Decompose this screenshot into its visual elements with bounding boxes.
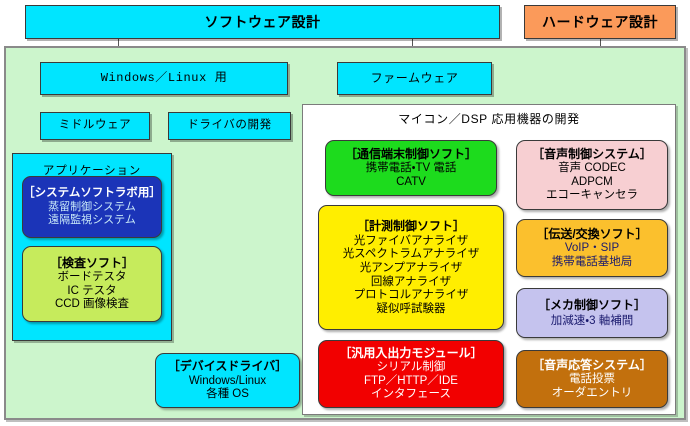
card-device-driver: ［デバイスドライバ］ Windows/Linux 各種 OS — [155, 353, 300, 408]
card-measurement-control-line-4: プロトコルアナライザ — [354, 289, 469, 303]
card-voice-control-system: ［音声制御システム］ 音声 CODEC ADPCM エコーキャンセラ — [516, 140, 668, 210]
card-device-driver-line-1: 各種 OS — [206, 388, 249, 402]
card-voice-control-system-line-0: 音声 CODEC — [558, 162, 626, 176]
card-inspection-software-line-1: IC テスタ — [67, 285, 116, 299]
card-measurement-control-line-2: 光アンプアナライザ — [360, 262, 462, 276]
middleware-box-label: ミドルウェア — [59, 119, 132, 133]
card-mecha-control-title: ［メカ制御ソフト］ — [538, 298, 646, 312]
software-design-header: ソフトウェア設計 — [25, 5, 500, 39]
firmware-box: ファームウェア — [337, 62, 492, 95]
hardware-design-header-label: ハードウェア設計 — [542, 14, 658, 31]
card-transmission-switching-title: ［伝送/交換ソフト］ — [536, 227, 647, 241]
card-inspection-software-line-2: CCD 画像検査 — [55, 298, 129, 312]
hardware-design-header: ハードウェア設計 — [524, 5, 676, 39]
card-general-io-module-line-0: シリアル制御 — [377, 361, 446, 375]
card-system-software-lab-title: ［システムソフトラボ用］ — [23, 187, 161, 201]
card-voice-response-system: ［音声応答システム］ 電話投票 オーダエントリ — [516, 350, 668, 408]
middleware-box: ミドルウェア — [40, 112, 150, 140]
card-voice-control-system-line-1: ADPCM — [571, 176, 613, 190]
card-voice-response-system-line-1: オーダエントリ — [552, 387, 633, 401]
card-comm-terminal-control: ［通信端末制御ソフト］ 携帯電話・TV 電話 CATV — [325, 140, 497, 196]
card-system-software-lab: ［システムソフトラボ用］ 蒸留制御システム 遠隔監視システム — [22, 176, 162, 238]
card-device-driver-title: ［デバイスドライバ］ — [168, 359, 287, 373]
card-measurement-control-line-5: 疑似呼試験器 — [377, 303, 446, 317]
card-mecha-control: ［メカ制御ソフト］ 加減速・3 軸補間 — [516, 288, 668, 338]
card-voice-control-system-title: ［音声制御システム］ — [532, 147, 652, 161]
card-measurement-control-line-0: 光ファイバアナライザ — [354, 235, 469, 249]
card-general-io-module-title: ［汎用入出力モジュール］ — [339, 346, 482, 360]
card-general-io-module-line-1: FTP／HTTP／IDE — [364, 375, 458, 389]
card-device-driver-line-0: Windows/Linux — [189, 375, 266, 389]
card-measurement-control-line-3: 回線アナライザ — [371, 276, 451, 290]
card-comm-terminal-control-line-1: CATV — [396, 176, 426, 190]
driver-development-box: ドライバの開発 — [168, 112, 291, 140]
card-measurement-control: ［計測制御ソフト］ 光ファイバアナライザ 光スペクトラムアナライザ 光アンプアナ… — [318, 205, 504, 330]
embedded-development-panel-title: マイコン／DSP 応用機器の開発 — [302, 110, 676, 127]
card-transmission-switching-line-0: VoIP・SIP — [565, 242, 619, 256]
card-inspection-software-line-0: ボードテスタ — [58, 271, 127, 285]
card-transmission-switching-line-1: 携帯電話基地局 — [552, 256, 633, 270]
firmware-box-label: ファームウェア — [371, 71, 459, 85]
card-inspection-software-title: ［検査ソフト］ — [50, 256, 134, 270]
card-inspection-software: ［検査ソフト］ ボードテスタ IC テスタ CCD 画像検査 — [22, 246, 162, 322]
card-measurement-control-title: ［計測制御ソフト］ — [357, 219, 465, 233]
card-general-io-module-line-2: インタフェース — [371, 388, 451, 402]
card-measurement-control-line-1: 光スペクトラムアナライザ — [343, 248, 480, 262]
card-mecha-control-line-0: 加減速・3 軸補間 — [551, 315, 634, 329]
platform-box-label: Windows／Linux 用 — [101, 71, 228, 85]
diagram-canvas: ソフトウェア設計 ハードウェア設計 Windows／Linux 用 ファームウェ… — [0, 0, 690, 426]
card-transmission-switching: ［伝送/交換ソフト］ VoIP・SIP 携帯電話基地局 — [516, 219, 668, 277]
card-system-software-lab-line-0: 蒸留制御システム — [48, 201, 136, 214]
card-voice-response-system-title: ［音声応答システム］ — [532, 358, 652, 372]
card-voice-response-system-line-0: 電話投票 — [569, 373, 615, 387]
software-design-header-label: ソフトウェア設計 — [205, 14, 321, 31]
platform-box: Windows／Linux 用 — [40, 62, 288, 95]
card-comm-terminal-control-title: ［通信端末制御ソフト］ — [345, 147, 477, 161]
card-general-io-module: ［汎用入出力モジュール］ シリアル制御 FTP／HTTP／IDE インタフェース — [318, 340, 504, 408]
card-system-software-lab-line-1: 遠隔監視システム — [48, 214, 136, 227]
card-voice-control-system-line-2: エコーキャンセラ — [546, 189, 638, 203]
card-comm-terminal-control-line-0: 携帯電話・TV 電話 — [366, 162, 457, 176]
driver-development-box-label: ドライバの開発 — [187, 119, 271, 133]
